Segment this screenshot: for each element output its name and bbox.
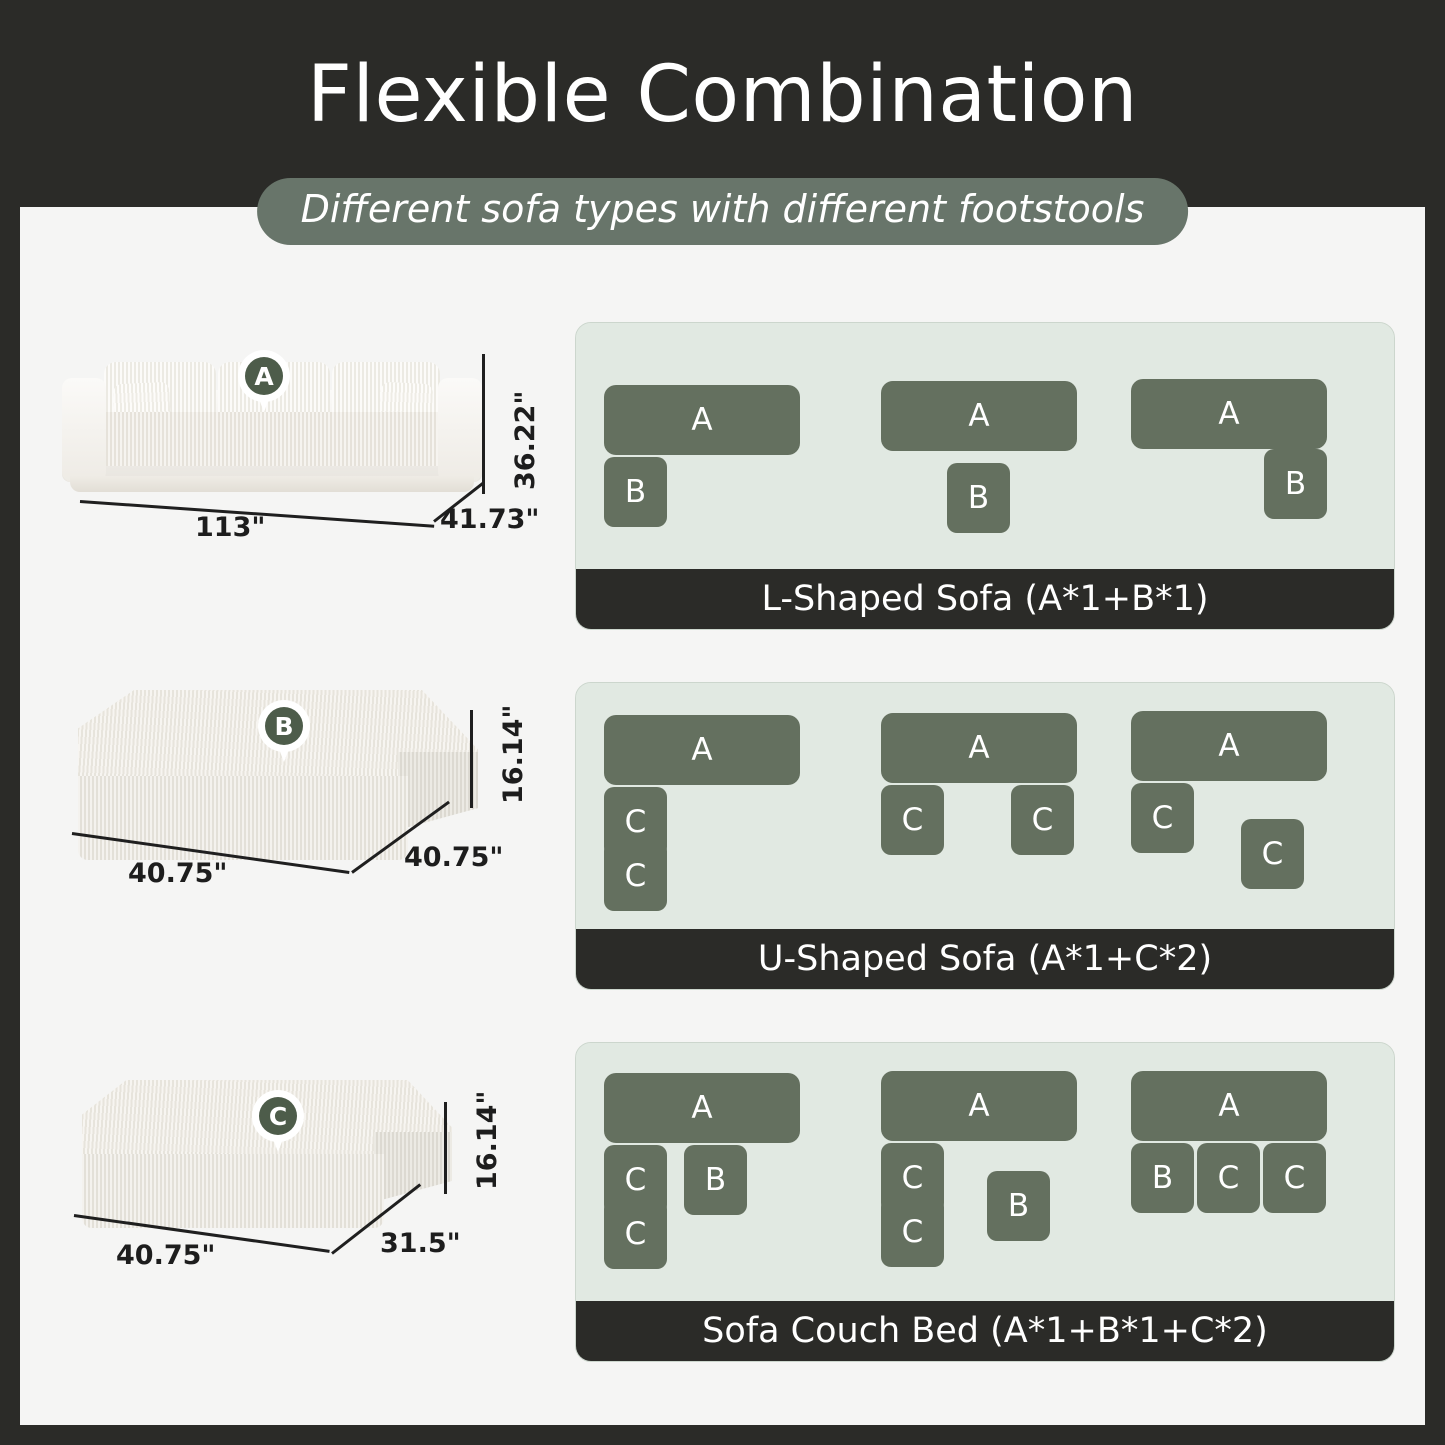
dimension-height-a: 36.22" <box>510 391 541 490</box>
poster-header: Flexible Combination <box>0 0 1445 207</box>
module-block-a: A <box>604 385 800 455</box>
ottoman-side-face <box>398 752 478 830</box>
combination-variant: ACCB <box>604 1043 854 1301</box>
marker-pin-a: A <box>238 350 290 414</box>
dimension-depth-b: 40.75" <box>404 842 503 873</box>
module-block-b: B <box>947 463 1010 533</box>
combination-panel-sofa-couch-bed: ACCB ACCB ABCC Sofa Couch Bed (A*1+B*1+C… <box>575 1042 1395 1362</box>
module-block-c: C <box>881 1197 944 1267</box>
combination-panel-u-shaped: ACC ACC ACC U-Shaped Sofa (A*1+C*2) <box>575 682 1395 990</box>
combination-variant: ACC <box>1131 683 1381 931</box>
module-block-c: C <box>1241 819 1304 889</box>
dimension-width-a: 113" <box>195 512 265 543</box>
module-block-b: B <box>987 1171 1050 1241</box>
module-block-b: B <box>1264 449 1327 519</box>
dimension-depth-c: 31.5" <box>380 1228 461 1259</box>
combination-variant: ACC <box>604 683 854 931</box>
module-block-a: A <box>604 715 800 785</box>
combination-variant: ACCB <box>881 1043 1131 1301</box>
module-block-b: B <box>604 457 667 527</box>
ottoman-front-face <box>78 776 408 860</box>
combination-variant: AB <box>881 323 1131 571</box>
dimension-width-b: 40.75" <box>128 858 227 889</box>
combination-panel-l-shaped: AB AB AB L-Shaped Sofa (A*1+B*1) <box>575 322 1395 630</box>
module-block-a: A <box>881 381 1077 451</box>
content-canvas: A 36.22" 113" 41.73" <box>20 207 1425 1425</box>
pin-label-a: A <box>245 357 283 395</box>
dimension-depth-a: 41.73" <box>440 504 539 535</box>
module-block-c: C <box>1263 1143 1326 1213</box>
module-block-c: C <box>604 841 667 911</box>
combination-diagram: ACCB ACCB ABCC <box>576 1043 1394 1301</box>
product-card-b: B 16.14" 40.75" 40.75" <box>40 682 560 902</box>
module-block-c: C <box>1131 783 1194 853</box>
combination-variant: AB <box>604 323 854 571</box>
marker-pin-b: B <box>258 700 310 764</box>
combination-diagram: AB AB AB <box>576 323 1394 571</box>
module-block-c: C <box>604 1199 667 1269</box>
product-illustration-b: B 16.14" 40.75" 40.75" <box>40 682 560 902</box>
pin-label-b: B <box>265 707 303 745</box>
sofa-arm-right <box>438 378 482 482</box>
module-block-a: A <box>1131 379 1327 449</box>
subtitle-pill: Different sofa types with different foot… <box>257 178 1189 245</box>
product-card-c: C 16.14" 40.75" 31.5" <box>40 1062 560 1282</box>
dimension-width-c: 40.75" <box>116 1240 215 1271</box>
combination-variant: ACC <box>881 683 1131 931</box>
module-block-a: A <box>604 1073 800 1143</box>
combination-caption: L-Shaped Sofa (A*1+B*1) <box>576 569 1394 629</box>
module-block-c: C <box>1197 1143 1260 1213</box>
product-card-a: A 36.22" 113" 41.73" <box>40 332 560 552</box>
module-block-b: B <box>1131 1143 1194 1213</box>
combination-caption: Sofa Couch Bed (A*1+B*1+C*2) <box>576 1301 1394 1361</box>
module-block-a: A <box>1131 711 1327 781</box>
product-illustration-c: C 16.14" 40.75" 31.5" <box>40 1062 560 1282</box>
module-block-a: A <box>881 713 1077 783</box>
sofa-seat-cushion <box>92 412 452 466</box>
dimension-line-height-c <box>444 1102 447 1194</box>
module-block-a: A <box>1131 1071 1327 1141</box>
module-block-b: B <box>684 1145 747 1215</box>
ottoman-front-face <box>82 1154 384 1228</box>
combination-diagram: ACC ACC ACC <box>576 683 1394 931</box>
page-title: Flexible Combination <box>0 56 1445 134</box>
poster-root: Flexible Combination <box>0 0 1445 1445</box>
module-block-c: C <box>881 785 944 855</box>
combination-caption: U-Shaped Sofa (A*1+C*2) <box>576 929 1394 989</box>
dimension-line-height-a <box>482 354 485 494</box>
module-block-a: A <box>881 1071 1077 1141</box>
combination-variant: ABCC <box>1131 1043 1381 1301</box>
pin-label-c: C <box>259 1097 297 1135</box>
combination-variant: AB <box>1131 323 1381 571</box>
marker-pin-c: C <box>252 1090 304 1154</box>
product-illustration-a: A 36.22" 113" 41.73" <box>40 332 560 552</box>
module-block-c: C <box>1011 785 1074 855</box>
dimension-height-c: 16.14" <box>472 1091 503 1190</box>
dimension-height-b: 16.14" <box>498 705 529 804</box>
subtitle-text: Different sofa types with different foot… <box>301 187 1145 232</box>
sofa-arm-left <box>62 378 106 482</box>
dimension-line-height-b <box>470 710 473 808</box>
sofa-base <box>70 476 474 492</box>
